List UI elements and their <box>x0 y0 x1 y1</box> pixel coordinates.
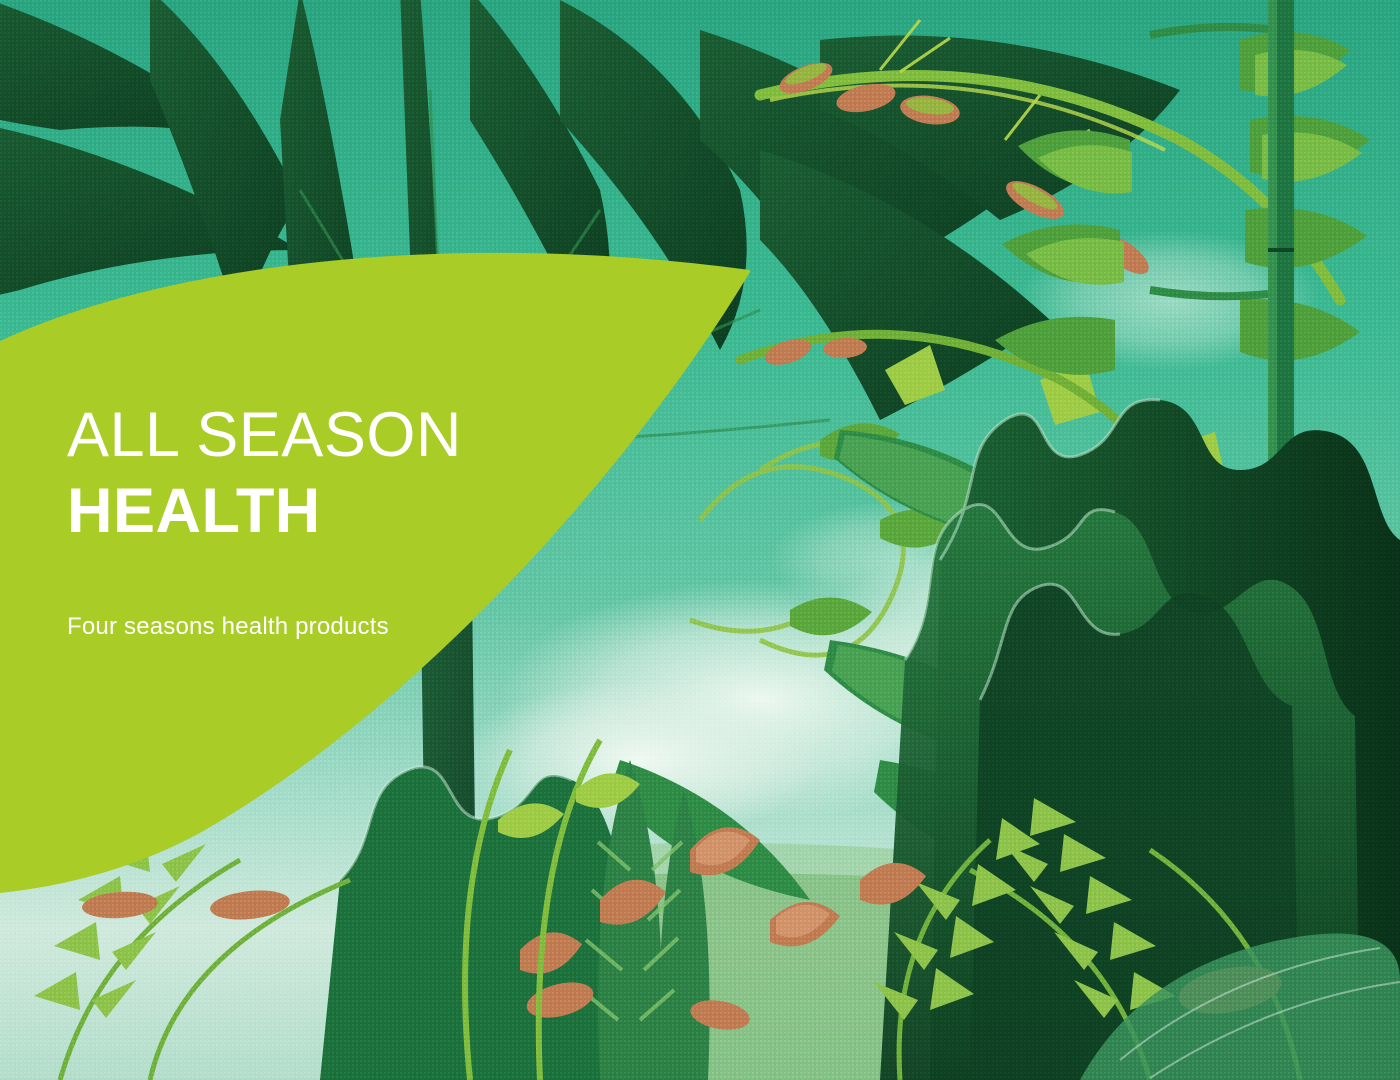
page-subtitle: Four seasons health products <box>67 613 687 641</box>
brand-copy-block: ALL SEASON HEALTH Four seasons health pr… <box>67 404 687 641</box>
poster-root: ALL SEASON HEALTH Four seasons health pr… <box>0 0 1400 1080</box>
page-title-line-1: ALL SEASON <box>67 404 687 467</box>
page-title-line-2: HEALTH <box>67 477 687 545</box>
